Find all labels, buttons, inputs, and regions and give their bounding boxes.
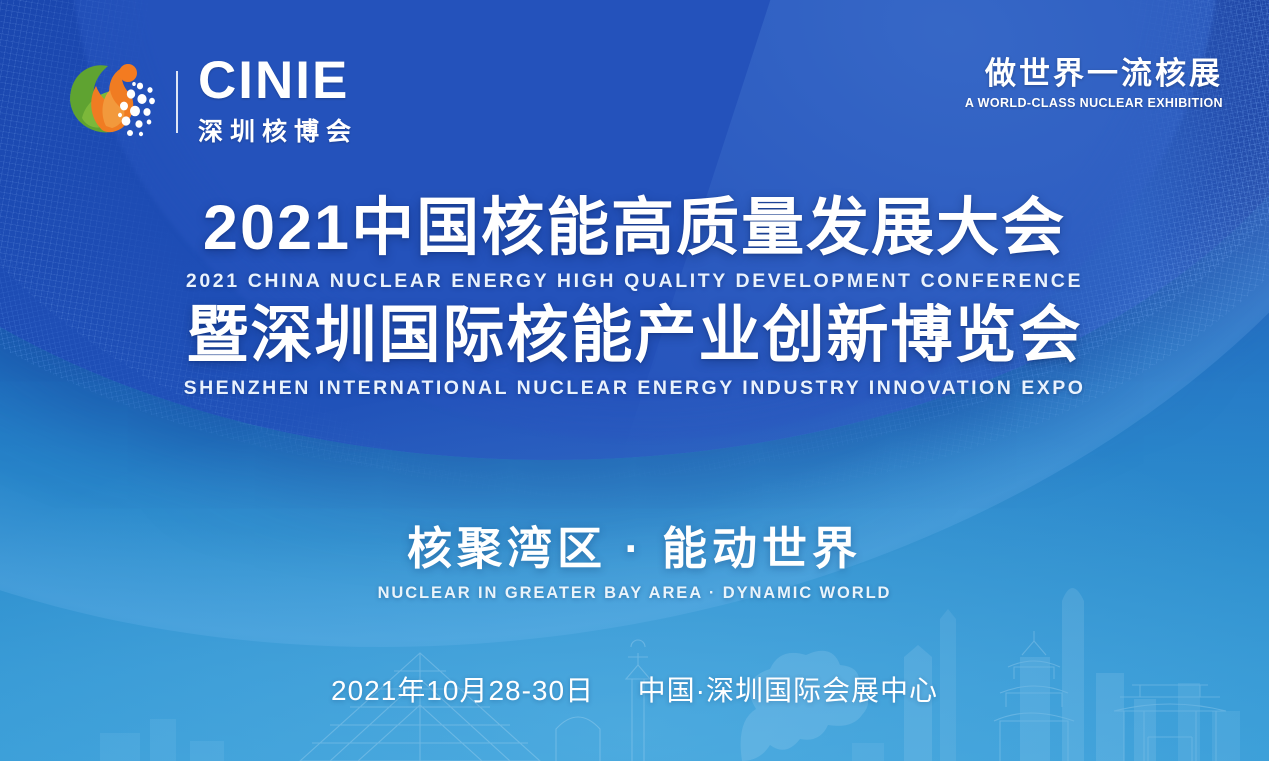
event-venue: 中国·深圳国际会展中心 xyxy=(638,675,938,706)
poster-slogan: 核聚湾区 · 能动世界 NUCLEAR IN GREATER BAY AREA … xyxy=(0,512,1269,603)
brand-wordmark: CINIE 深圳核博会 xyxy=(198,56,358,148)
tagline-block: 做世界一流核展 A WORLD-CLASS NUCLEAR EXHIBITION xyxy=(965,57,1223,110)
main-title-cn: 2021中国核能高质量发展大会 xyxy=(0,196,1269,262)
main-title-en: 2021 CHINA NUCLEAR ENERGY HIGH QUALITY D… xyxy=(0,270,1269,293)
secondary-title-en: SHENZHEN INTERNATIONAL NUCLEAR ENERGY IN… xyxy=(0,377,1269,400)
brand-lockup[interactable]: CINIE 深圳核博会 xyxy=(62,56,358,148)
brand-name-en: CINIE xyxy=(198,56,358,107)
tagline-en: A WORLD-CLASS NUCLEAR EXHIBITION xyxy=(965,96,1223,110)
poster-header: CINIE 深圳核博会 做世界一流核展 A WORLD-CLASS NUCLEA… xyxy=(0,0,1269,170)
secondary-title-cn: 暨深圳国际核能产业创新博览会 xyxy=(0,304,1269,368)
event-date: 2021年10月28-30日 xyxy=(331,675,594,706)
cinie-emblem-icon xyxy=(62,56,158,148)
tagline-cn: 做世界一流核展 xyxy=(965,57,1223,91)
conference-poster: CINIE 深圳核博会 做世界一流核展 A WORLD-CLASS NUCLEA… xyxy=(0,0,1269,761)
poster-titles: 2021中国核能高质量发展大会 2021 CHINA NUCLEAR ENERG… xyxy=(0,196,1269,400)
logo-divider xyxy=(176,71,178,133)
slogan-en: NUCLEAR IN GREATER BAY AREA · DYNAMIC WO… xyxy=(0,584,1269,603)
slogan-cn: 核聚湾区 · 能动世界 xyxy=(0,512,1269,577)
brand-name-cn: 深圳核博会 xyxy=(198,112,358,148)
event-info: 2021年10月28-30日 中国·深圳国际会展中心 xyxy=(0,669,1269,709)
